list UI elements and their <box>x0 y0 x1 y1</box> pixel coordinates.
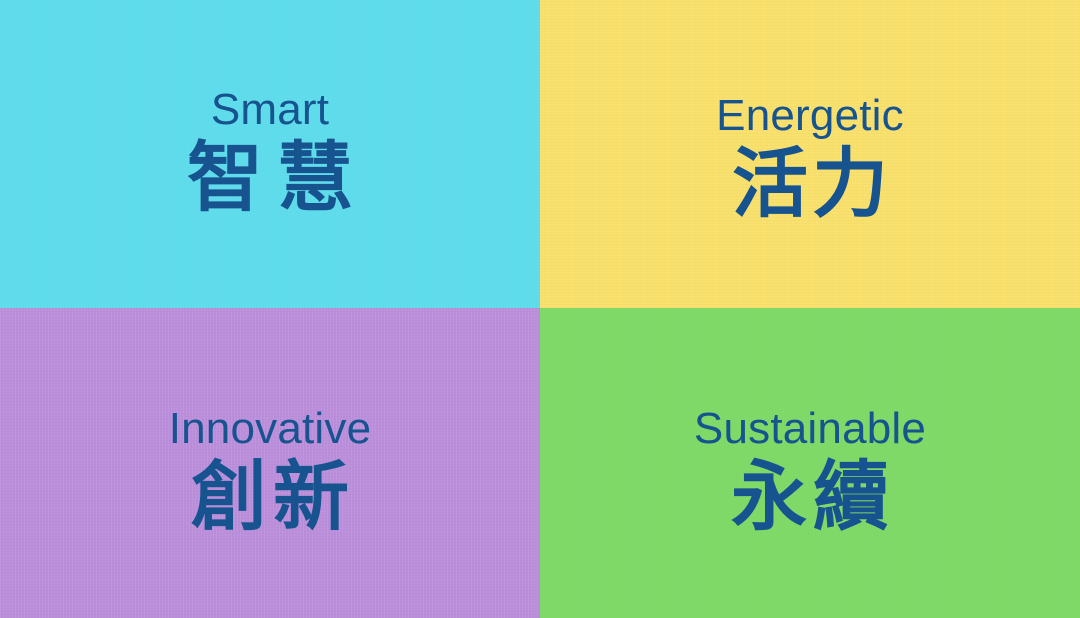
quadrant-sustainable-text: Sustainable 永續 <box>694 407 926 535</box>
quadrant-innovative-label-en: Innovative <box>169 407 372 451</box>
quadrant-grid: Smart 智慧 Energetic 活力 Innovative 創新 Sust… <box>0 0 1080 618</box>
quadrant-sustainable[interactable]: Sustainable 永續 <box>540 308 1080 618</box>
quadrant-energetic-label-en: Energetic <box>716 94 904 138</box>
quadrant-energetic[interactable]: Energetic 活力 <box>540 0 1080 308</box>
quadrant-sustainable-label-zh: 永續 <box>725 459 895 535</box>
quadrant-energetic-text: Energetic 活力 <box>716 94 904 222</box>
quadrant-smart-text: Smart 智慧 <box>173 88 367 216</box>
quadrant-innovative-text: Innovative 創新 <box>169 407 372 535</box>
quadrant-smart-label-zh: 智慧 <box>173 140 367 216</box>
quadrant-innovative-label-zh: 創新 <box>185 459 355 535</box>
quadrant-smart-label-en: Smart <box>211 88 329 132</box>
quadrant-smart[interactable]: Smart 智慧 <box>0 0 540 308</box>
quadrant-innovative[interactable]: Innovative 創新 <box>0 308 540 618</box>
quadrant-sustainable-label-en: Sustainable <box>694 407 926 451</box>
quadrant-energetic-label-zh: 活力 <box>728 146 892 222</box>
brand-values-poster: Smart 智慧 Energetic 活力 Innovative 創新 Sust… <box>0 0 1080 618</box>
